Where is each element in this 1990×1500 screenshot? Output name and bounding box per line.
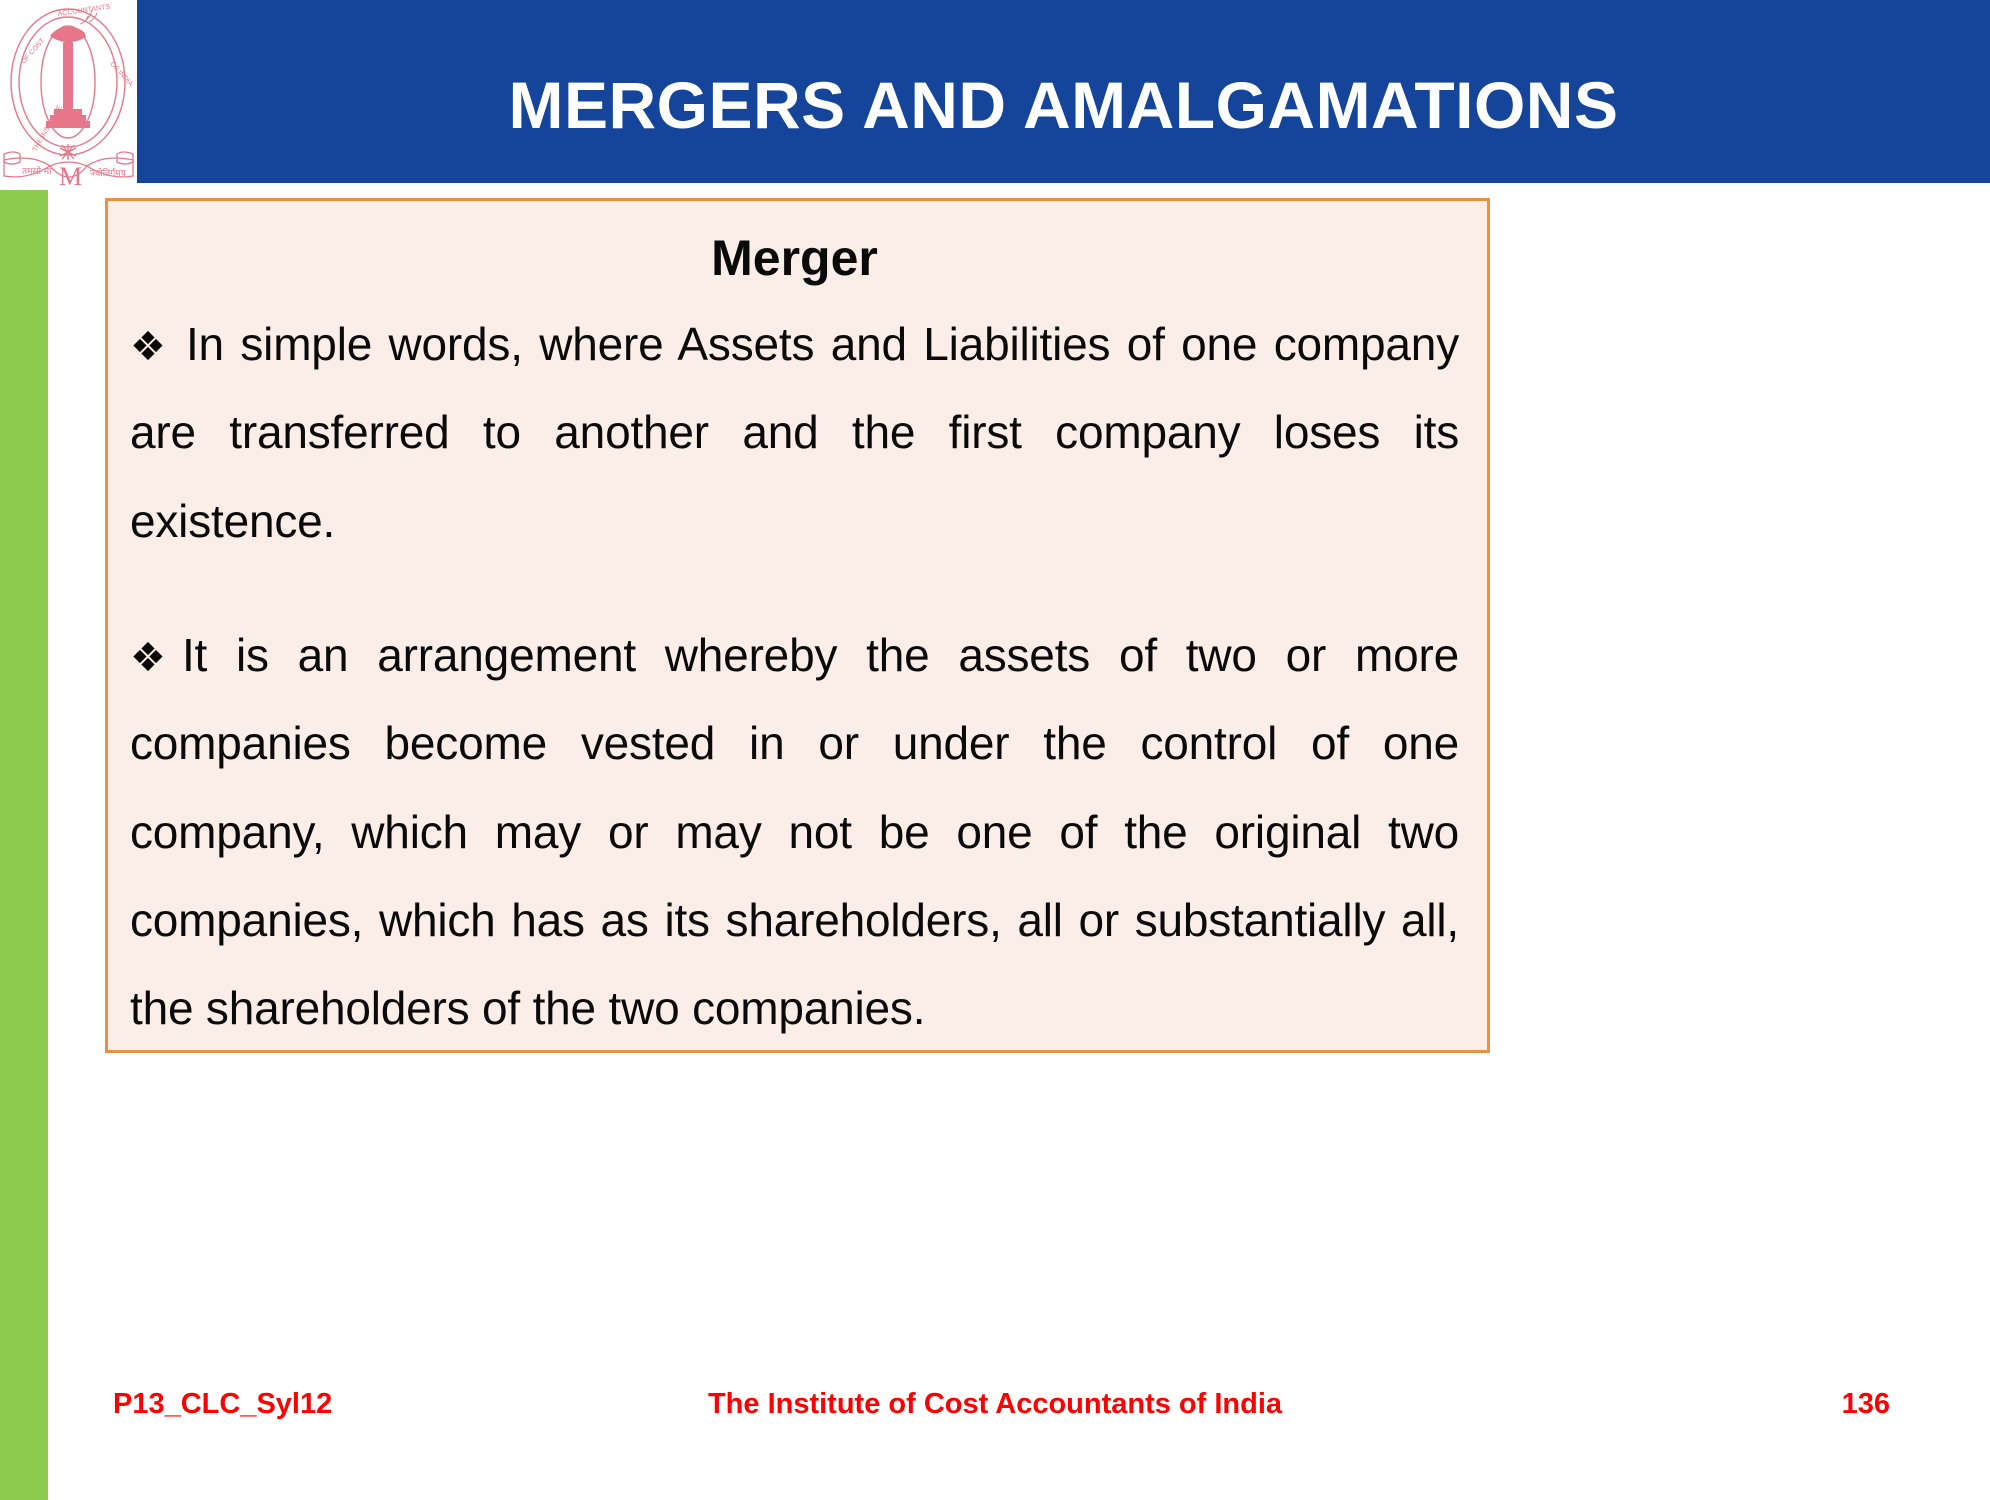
bullet-text-1: In simple words, where Assets and Liabil… xyxy=(130,318,1459,547)
footer-page-number: 136 xyxy=(1842,1388,1890,1421)
page-title: MERGERS AND AMALGAMATIONS xyxy=(137,0,1990,183)
svg-text:ज्योतिर्गमय: ज्योतिर्गमय xyxy=(90,167,127,179)
svg-text:M: M xyxy=(59,162,82,190)
bullet-spacer-1 xyxy=(170,318,186,370)
footer-institute-name: The Institute of Cost Accountants of Ind… xyxy=(0,1388,1990,1421)
diamond-bullet-icon: ❖ xyxy=(130,324,170,370)
diamond-bullet-icon: ❖ xyxy=(130,635,182,681)
institute-emblem-icon: तमसो मा ज्योतिर्गमय M THE INSTITUTE OF C… xyxy=(2,2,135,190)
svg-text:तमसो मा: तमसो मा xyxy=(22,165,52,177)
green-accent-bar xyxy=(0,190,48,1500)
slide-canvas: तमसो मा ज्योतिर्गमय M THE INSTITUTE OF C… xyxy=(0,0,1990,1500)
bullet-paragraph-1: ❖ In simple words, where Assets and Liab… xyxy=(130,300,1459,565)
bullet-text-2: It is an arrangement whereby the assets … xyxy=(130,629,1459,1034)
svg-text:ACCOUNTANTS: ACCOUNTANTS xyxy=(57,4,111,18)
content-heading: Merger xyxy=(130,231,1459,286)
content-box: Merger ❖ In simple words, where Assets a… xyxy=(105,198,1490,1053)
svg-text:OF INDIA: OF INDIA xyxy=(109,61,135,88)
bullet-paragraph-2: ❖It is an arrangement whereby the assets… xyxy=(130,611,1459,1053)
slide-footer: P13_CLC_Syl12 The Institute of Cost Acco… xyxy=(0,1388,1990,1448)
